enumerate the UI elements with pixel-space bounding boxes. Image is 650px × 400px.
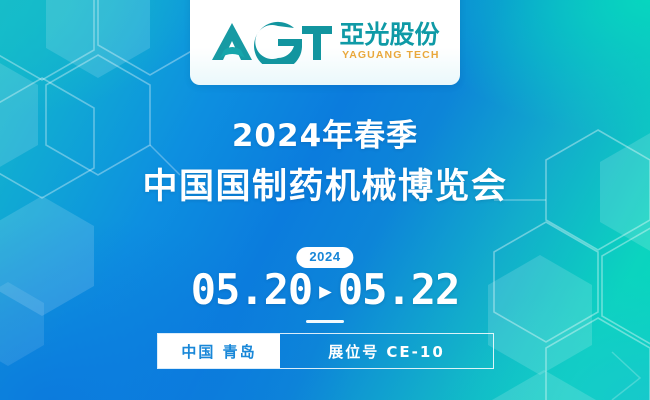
logo-card: 亞光股份 YAGUANG TECH [190,0,460,85]
logo-company-en: YAGUANG TECH [339,50,439,61]
title-line-2: 中国国制药机械博览会 [0,167,650,207]
exhibition-banner: 亞光股份 YAGUANG TECH 2024年春季 中国国制药机械博览会 202… [0,0,650,400]
logo-text-block: 亞光股份 YAGUANG TECH [339,22,439,61]
logo-company-cn: 亞光股份 [339,22,439,47]
date-arrow-icon: ▶ [319,281,331,302]
date-range: 05.20 ▶ 05.22 [0,268,650,312]
date-start: 05.20 [191,268,312,312]
agt-logo-icon [210,20,332,64]
footer-booth: 展位号 CE-10 [280,334,493,368]
footer-bar: 中国 青岛 展位号 CE-10 [157,333,494,369]
date-end: 05.22 [338,268,459,312]
divider-line [306,320,344,323]
footer-location: 中国 青岛 [158,334,280,368]
title-line-1: 2024年春季 [0,118,650,155]
title-block: 2024年春季 中国国制药机械博览会 [0,118,650,207]
logo-lockup: 亞光股份 YAGUANG TECH [210,20,439,64]
